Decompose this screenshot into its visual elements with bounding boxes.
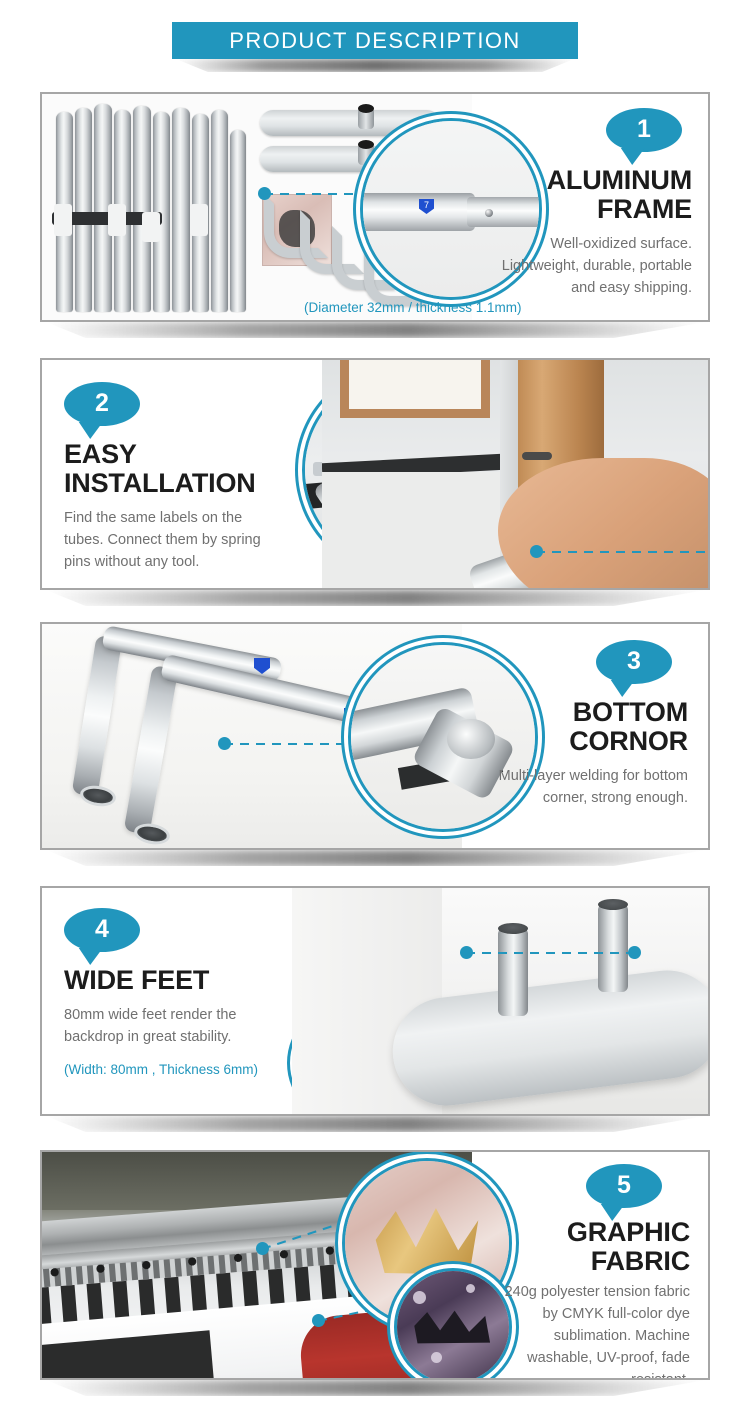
feature-5-body-line-3: sublimation. Machine [505,1325,690,1347]
feature-1-body: Well-oxidized surface. Lightweight, dura… [502,233,692,299]
feature-2-heading: EASY INSTALLATION [64,440,256,498]
feature-3-number-bubble: 3 [596,640,672,684]
feature-3-heading-line-2: CORNOR [569,727,688,756]
page-title: PRODUCT DESCRIPTION [229,28,520,54]
feature-1-spec-note: (Diameter 32mm / thickness 1.1mm) [304,300,522,315]
feature-panel-1: 7 1 ALUMINUM FRAME Well-oxidized surface… [40,92,710,322]
feature-3-number: 3 [627,649,641,674]
header-banner-shadow [176,59,574,72]
feature-5-number-bubble: 5 [586,1164,662,1208]
feature-4-heading-line-1: WIDE FEET [64,966,209,995]
feature-4-image [292,888,708,1114]
feature-3-connector-dot [218,737,231,750]
feature-4-connector-dot-left [460,946,473,959]
feature-2-heading-line-2: INSTALLATION [64,469,256,498]
feature-2-text: 2 EASY INSTALLATION Find the same labels… [42,360,322,588]
feature-3-heading: BOTTOM CORNOR [569,698,688,756]
feature-4-number: 4 [95,917,109,942]
feature-2-heading-line-1: EASY [64,440,256,469]
feature-5-connector-dot-lower [312,1314,325,1327]
feature-2-body-line-1: Find the same labels on the [64,507,261,529]
feature-2-body-line-3: pins without any tool. [64,551,261,573]
feature-panel-3-shadow [46,850,706,866]
feature-4-connector [466,952,634,954]
feature-5-heading-line-2: FABRIC [567,1247,690,1276]
feature-3-body-line-1: Multi-layer welding for bottom [499,765,688,787]
feature-panel-5-shadow [46,1380,706,1396]
feature-2-connector [536,551,708,553]
feature-3-body-line-2: corner, strong enough. [499,787,688,809]
feature-5-body: 240g polyester tension fabric by CMYK fu… [505,1281,690,1380]
header: PRODUCT DESCRIPTION [0,0,750,80]
feature-1-heading: ALUMINUM FRAME [547,166,692,224]
feature-3-heading-line-1: BOTTOM [569,698,688,727]
feature-panel-2-shadow [46,590,706,606]
feature-1-number-bubble: 1 [606,108,682,152]
feature-5-text: 5 GRAPHIC FABRIC 240g polyester tension … [472,1152,708,1378]
feature-1-heading-line-1: ALUMINUM [547,166,692,195]
feature-1-body-line-2: Lightweight, durable, portable [502,255,692,277]
header-banner: PRODUCT DESCRIPTION [172,22,578,59]
feature-1-number: 1 [637,117,651,142]
feature-1-text: 1 ALUMINUM FRAME Well-oxidized surface. … [472,94,708,320]
feature-4-spec-note: (Width: 80mm , Thickness 6mm) [64,1062,258,1077]
feature-5-number: 5 [617,1173,631,1198]
feature-panel-5: 5 GRAPHIC FABRIC 240g polyester tension … [40,1150,710,1380]
feature-2-number: 2 [95,391,109,416]
feature-panel-3: 3 BOTTOM CORNOR Multi-layer welding for … [40,622,710,850]
feature-4-number-bubble: 4 [64,908,140,952]
feature-5-heading: GRAPHIC FABRIC [567,1218,690,1276]
feature-2-image [322,360,708,588]
feature-4-text: 4 WIDE FEET 80mm wide feet render the ba… [42,888,292,1114]
feature-5-body-line-5: resistant. [505,1369,690,1380]
feature-1-body-line-3: and easy shipping. [502,277,692,299]
feature-4-body: 80mm wide feet render the backdrop in gr… [64,1004,236,1048]
feature-2-number-bubble: 2 [64,382,140,426]
feature-1-connector-dot [258,187,271,200]
feature-5-body-line-2: by CMYK full-color dye [505,1303,690,1325]
feature-5-heading-line-1: GRAPHIC [567,1218,690,1247]
feature-4-body-line-2: backdrop in great stability. [64,1026,236,1048]
feature-1-body-line-1: Well-oxidized surface. [502,233,692,255]
feature-4-body-line-1: 80mm wide feet render the [64,1004,236,1026]
feature-2-body-line-2: tubes. Connect them by spring [64,529,261,551]
feature-5-body-line-1: 240g polyester tension fabric [505,1281,690,1303]
feature-panel-2: 2 EASY INSTALLATION Find the same labels… [40,358,710,590]
feature-3-body: Multi-layer welding for bottom corner, s… [499,765,688,809]
feature-5-connector-dot-upper [256,1242,269,1255]
feature-5-body-line-4: washable, UV-proof, fade [505,1347,690,1369]
feature-panel-4: 4 WIDE FEET 80mm wide feet render the ba… [40,886,710,1116]
feature-2-connector-dot [530,545,543,558]
feature-4-connector-dot-right [628,946,641,959]
feature-panel-4-shadow [46,1116,706,1132]
feature-4-heading: WIDE FEET [64,966,209,995]
feature-1-heading-line-2: FRAME [547,195,692,224]
feature-2-body: Find the same labels on the tubes. Conne… [64,507,261,573]
feature-3-text: 3 BOTTOM CORNOR Multi-layer welding for … [462,624,708,848]
feature-panel-1-shadow [46,322,706,338]
